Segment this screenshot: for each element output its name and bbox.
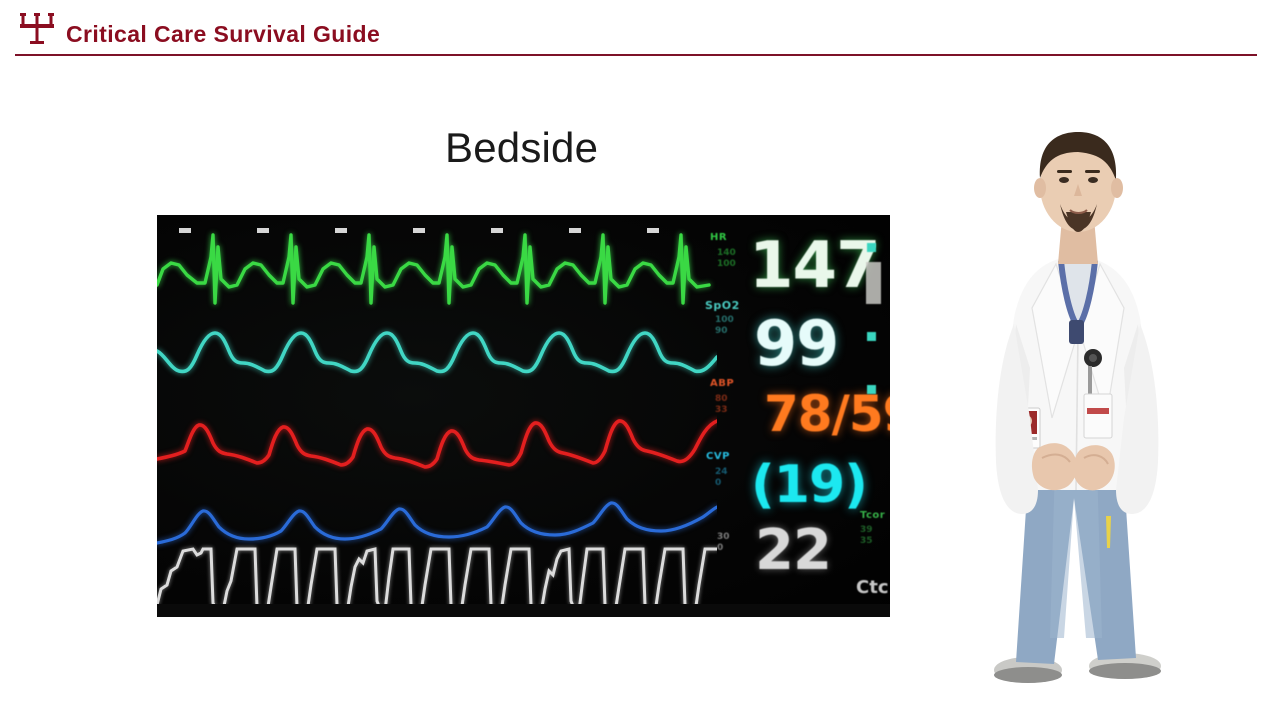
tcore-scale: 39 35 <box>860 525 873 547</box>
page-title: Critical Care Survival Guide <box>66 21 380 48</box>
abp-scale: 80 33 <box>715 394 728 416</box>
hr-label: HR <box>710 232 727 243</box>
iu-trident-logo <box>17 11 57 47</box>
spo2-label: SpO2 <box>705 299 740 312</box>
slide-title: Bedside <box>445 124 598 172</box>
patient-monitor-image: HR 140 100 147 SpO2 100 90 99 ABP 80 33 … <box>157 215 890 617</box>
respiration-value: 22 <box>755 518 831 583</box>
monitor-side-pip <box>867 385 876 394</box>
monitor-bottom-strip <box>157 604 890 617</box>
abp-label: ABP <box>710 378 734 389</box>
hr-value: 147 <box>749 229 880 303</box>
spo2-scale: 100 90 <box>715 315 734 337</box>
respiration-scale: 30 0 <box>717 532 730 554</box>
monitor-side-pip <box>867 243 876 252</box>
monitor-side-pip <box>867 332 876 341</box>
cvp-scale: 24 0 <box>715 467 728 489</box>
tcore-label: Tcor <box>860 510 885 521</box>
header-divider <box>15 54 1257 56</box>
cvp-label: CVP <box>706 451 730 462</box>
hr-scale: 140 100 <box>717 248 736 270</box>
cvp-value: (19) <box>751 455 867 515</box>
spo2-value: 99 <box>754 307 838 380</box>
monitor-side-indicator <box>866 262 881 304</box>
presenter-video-cutout <box>960 118 1190 700</box>
page-header: Critical Care Survival Guide <box>0 0 1280 58</box>
tcore-value: Ctc <box>856 577 888 598</box>
